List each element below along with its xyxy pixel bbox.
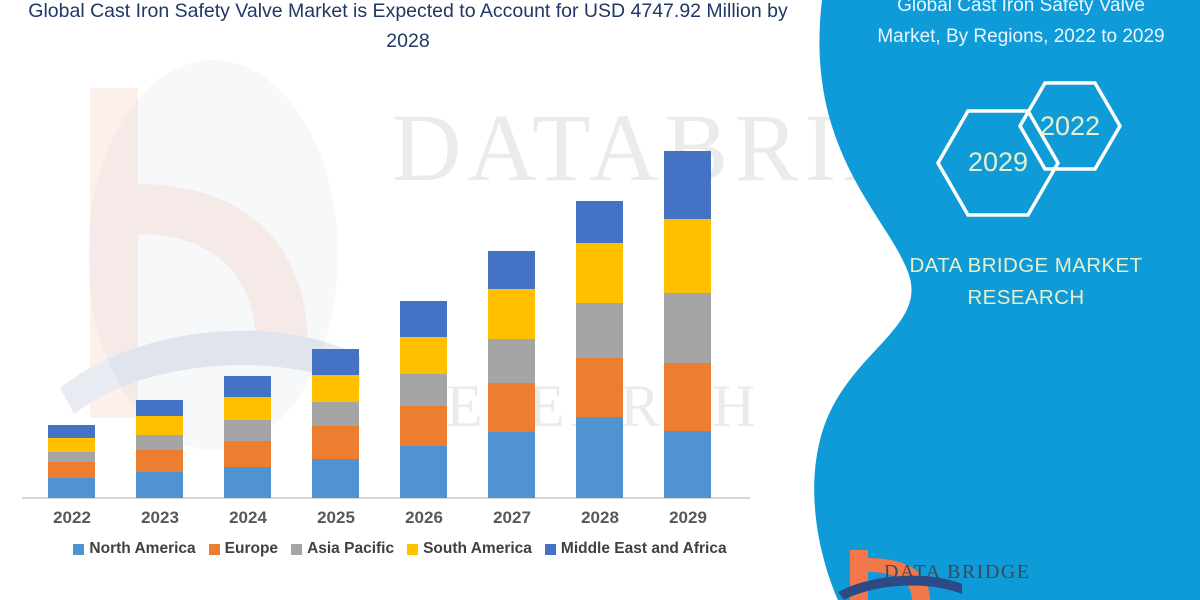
bar-segment	[576, 243, 623, 303]
bar-segment	[48, 438, 95, 452]
legend-swatch	[209, 544, 220, 555]
bar-segment	[664, 151, 711, 219]
right-panel-title-line-1: Global Cast Iron Safety Valve	[846, 0, 1196, 21]
x-axis-labels: 20222023202420252026202720282029	[0, 508, 800, 536]
bar-segment	[664, 219, 711, 293]
bar-column	[312, 349, 359, 498]
right-panel-brand: DATA BRIDGE MARKET RESEARCH	[876, 250, 1176, 314]
bar-segment	[136, 435, 183, 450]
bar-segment	[312, 402, 359, 426]
legend-item: South America	[407, 540, 532, 558]
bar-column	[488, 251, 535, 498]
bar-segment	[576, 303, 623, 358]
bar-segment	[576, 417, 623, 498]
bar-segment	[136, 400, 183, 416]
x-axis-label: 2025	[291, 508, 381, 528]
hex-badge-2029-label: 2029	[968, 147, 1028, 177]
bar-segment	[400, 374, 447, 406]
bar-segment	[224, 467, 271, 498]
bar-column	[400, 301, 447, 498]
bar-segment	[224, 441, 271, 467]
bar-column	[136, 400, 183, 498]
bar-segment	[664, 293, 711, 363]
chart-area: Global Cast Iron Safety Valve Market is …	[0, 0, 800, 600]
hexagon-badges: 2029 2022	[910, 78, 1160, 248]
bar-column	[576, 201, 623, 498]
databridge-logo-text: DATA BRIDGE	[884, 561, 1031, 584]
legend-label: North America	[89, 540, 195, 558]
stacked-bar-plot	[20, 140, 760, 498]
hex-badge-2022-label: 2022	[1040, 111, 1100, 141]
right-panel-title: Global Cast Iron Safety Valve Market, By…	[846, 0, 1196, 52]
x-axis-label: 2024	[203, 508, 293, 528]
x-axis-label: 2026	[379, 508, 469, 528]
brand-line-1: DATA BRIDGE MARKET	[876, 250, 1176, 282]
bar-segment	[400, 301, 447, 337]
legend-item: Middle East and Africa	[545, 540, 727, 558]
bar-segment	[664, 363, 711, 431]
bar-segment	[576, 201, 623, 243]
x-axis-label: 2028	[555, 508, 645, 528]
brand-line-2: RESEARCH	[876, 282, 1176, 314]
bar-segment	[224, 420, 271, 440]
chart-legend: North AmericaEuropeAsia PacificSouth Ame…	[0, 540, 800, 558]
bar-segment	[136, 416, 183, 435]
legend-item: Asia Pacific	[291, 540, 394, 558]
x-axis-label: 2027	[467, 508, 557, 528]
right-panel-title-line-2: Market, By Regions, 2022 to 2029	[846, 21, 1196, 52]
legend-swatch	[545, 544, 556, 555]
chart-title: Global Cast Iron Safety Valve Market is …	[8, 0, 808, 56]
bar-segment	[224, 397, 271, 421]
legend-label: Middle East and Africa	[561, 540, 727, 558]
bar-segment	[312, 375, 359, 402]
bar-segment	[400, 337, 447, 373]
bar-column	[224, 376, 271, 498]
bar-segment	[48, 425, 95, 438]
legend-label: Asia Pacific	[307, 540, 394, 558]
bar-segment	[312, 426, 359, 459]
bar-segment	[48, 462, 95, 477]
bar-column	[48, 425, 95, 498]
legend-item: North America	[73, 540, 195, 558]
bar-segment	[312, 349, 359, 375]
bar-segment	[48, 452, 95, 463]
bar-segment	[488, 339, 535, 383]
x-axis-label: 2022	[27, 508, 117, 528]
legend-swatch	[407, 544, 418, 555]
bar-segment	[488, 289, 535, 339]
bar-segment	[400, 406, 447, 445]
legend-label: Europe	[225, 540, 278, 558]
bar-segment	[488, 383, 535, 432]
bar-segment	[312, 459, 359, 498]
bar-segment	[224, 376, 271, 397]
bar-column	[664, 151, 711, 498]
bar-segment	[488, 432, 535, 498]
legend-swatch	[73, 544, 84, 555]
bar-segment	[488, 251, 535, 289]
x-axis-label: 2023	[115, 508, 205, 528]
infographic-canvas: DATABRIDGE RESEARCH Global Cast Iron Saf…	[0, 0, 1200, 600]
legend-swatch	[291, 544, 302, 555]
bar-segment	[136, 450, 183, 472]
bar-segment	[576, 358, 623, 417]
bar-segment	[48, 478, 95, 498]
bar-segment	[664, 431, 711, 498]
bar-segment	[400, 446, 447, 498]
bar-segment	[136, 472, 183, 498]
legend-label: South America	[423, 540, 532, 558]
legend-item: Europe	[209, 540, 278, 558]
x-axis-label: 2029	[643, 508, 733, 528]
